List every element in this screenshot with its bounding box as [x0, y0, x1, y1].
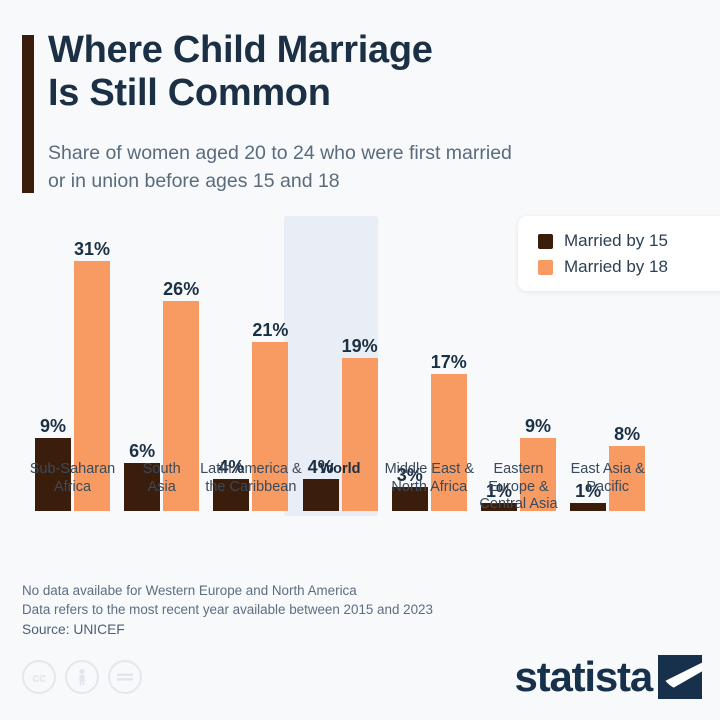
footnote-line-1: No data availabe for Western Europe and …: [22, 581, 582, 600]
category-label-line: Central Asia: [459, 496, 578, 514]
bar-value-label: 8%: [614, 425, 640, 443]
statista-mark-icon: [658, 655, 702, 699]
subtitle-line-2: or in union before ages 15 and 18: [48, 168, 688, 196]
cc-nd-equals-icon: [108, 660, 142, 694]
category-label-line: Pacific: [548, 479, 667, 497]
header: Where Child Marriage Is Still Common Sha…: [0, 0, 720, 205]
cc-icon-label: cc: [32, 670, 45, 685]
bar-value-label: 26%: [163, 280, 199, 298]
bar-value-label: 9%: [525, 417, 551, 435]
bar-chart-plot: 9%31%Sub-SaharanAfrica6%26%SouthAsia4%21…: [0, 205, 720, 575]
category-label-line: East Asia &: [548, 461, 667, 479]
bar-rect[interactable]: [570, 503, 606, 511]
source-label: Source: UNICEF: [22, 622, 125, 637]
infographic-root: Where Child Marriage Is Still Common Sha…: [0, 0, 720, 720]
title-line-1: Where Child Marriage: [48, 29, 668, 72]
cc-icon: cc: [22, 660, 56, 694]
title-line-2: Is Still Common: [48, 72, 668, 115]
footnote-line-2: Data refers to the most recent year avai…: [22, 600, 582, 619]
category-label: East Asia &Pacific: [548, 461, 667, 496]
subtitle-line-1: Share of women aged 20 to 24 who were fi…: [48, 140, 688, 168]
bar-value-label: 6%: [129, 442, 155, 460]
category-label-line: the Caribbean: [191, 479, 310, 497]
footnotes: No data availabe for Western Europe and …: [22, 581, 582, 619]
bar-value-label: 21%: [252, 321, 288, 339]
statista-wordmark: statista: [515, 656, 652, 698]
statista-logo: statista: [515, 655, 702, 699]
bar-value-label: 31%: [74, 240, 110, 258]
bar-value-label: 17%: [431, 353, 467, 371]
bar-value-label: 19%: [342, 337, 378, 355]
creative-commons-badges: cc: [22, 660, 142, 694]
bar-value-label: 9%: [40, 417, 66, 435]
page-title: Where Child Marriage Is Still Common: [48, 29, 668, 115]
cc-by-person-icon: [65, 660, 99, 694]
accent-bar: [22, 35, 34, 193]
bar-rect[interactable]: [303, 479, 339, 511]
subtitle: Share of women aged 20 to 24 who were fi…: [48, 140, 688, 195]
